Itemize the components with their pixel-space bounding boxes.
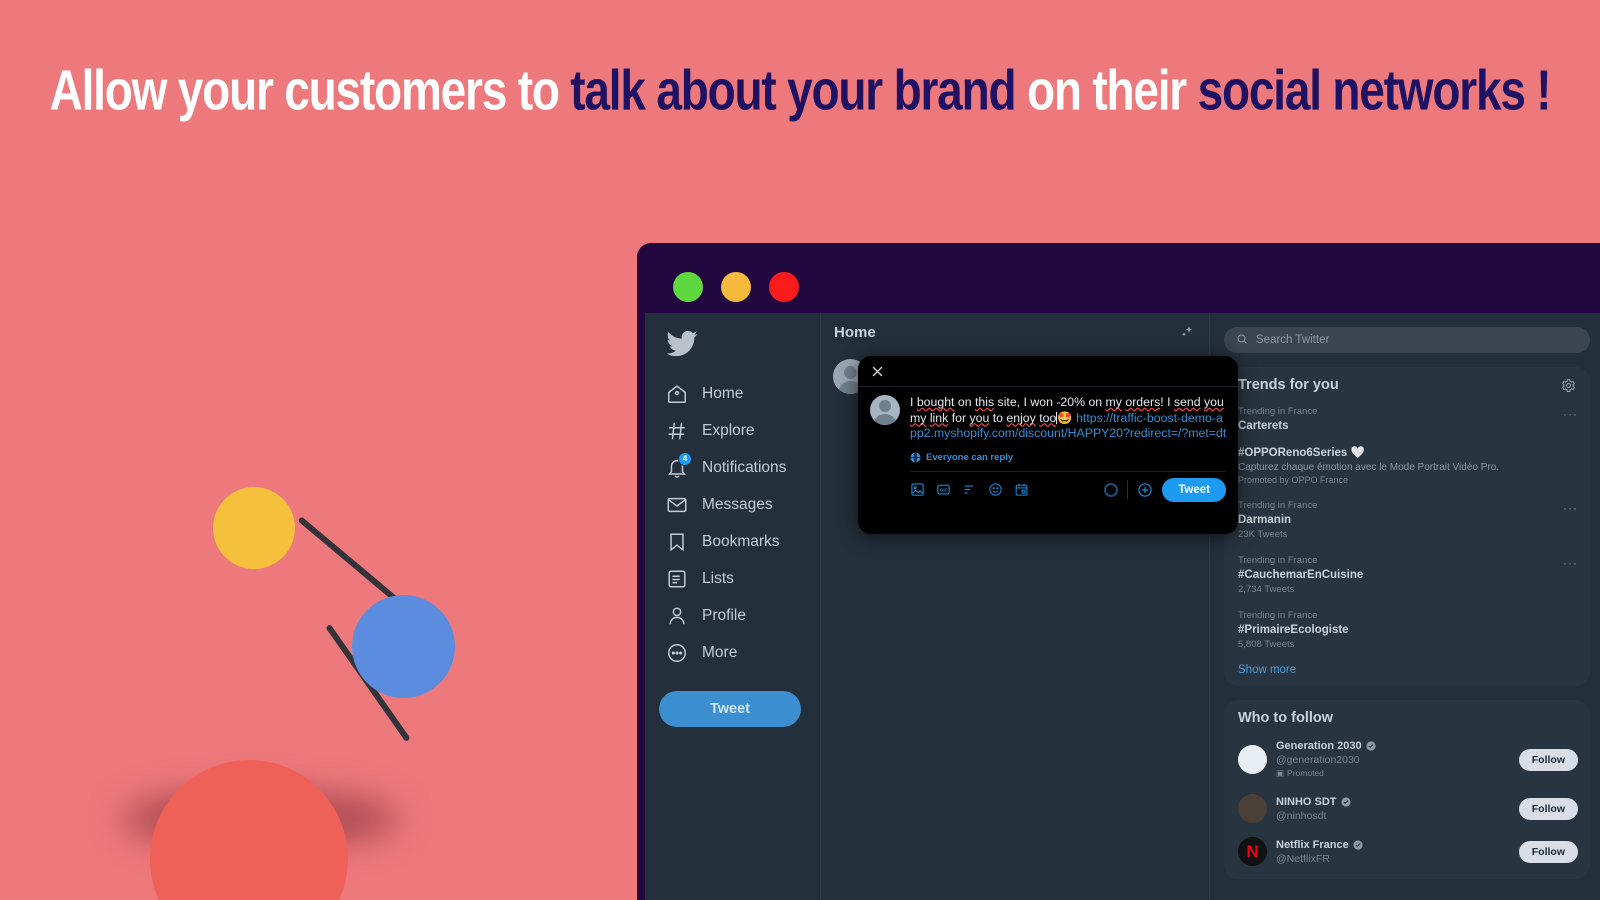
envelope-icon [666, 494, 688, 516]
close-icon[interactable] [870, 364, 885, 379]
avatar [870, 395, 900, 425]
follow-button[interactable]: Follow [1519, 798, 1578, 820]
poll-icon[interactable] [962, 482, 977, 497]
who-to-follow-title: Who to follow [1238, 710, 1333, 726]
trend-name: #CauchemarEnCuisine [1238, 568, 1576, 583]
sidebar-item-messages[interactable]: Messages [657, 486, 820, 523]
right-sidebar: Search Twitter Trends for you ··· Trendi… [1210, 313, 1600, 900]
trend-count: 23K Tweets [1238, 528, 1576, 542]
image-icon[interactable] [910, 482, 925, 497]
red-node [150, 760, 348, 900]
svg-text:GIF: GIF [940, 488, 948, 493]
trend-name: Carterets [1238, 419, 1576, 434]
hashtag-icon [666, 420, 688, 442]
trend-item[interactable]: Trending in France #PrimaireEcologiste 5… [1224, 603, 1590, 658]
trend-name: Darmanin [1238, 513, 1576, 528]
toolbar-divider [1127, 480, 1128, 499]
avatar: N [1238, 837, 1267, 866]
list-icon [666, 568, 688, 590]
reply-setting-button[interactable]: Everyone can reply [910, 450, 1228, 466]
trend-context: Trending in France [1238, 554, 1576, 568]
follow-button[interactable]: Follow [1519, 749, 1578, 771]
headline-part-3: on their [1027, 58, 1198, 121]
list-item[interactable]: N Netflix France @NetflixFR Follow [1224, 830, 1590, 873]
sidebar-item-bookmarks[interactable]: Bookmarks [657, 523, 820, 560]
account-name: Netflix France [1276, 838, 1349, 852]
avatar [1238, 745, 1267, 774]
trend-count: 5,808 Tweets [1238, 638, 1576, 652]
modal-header [858, 356, 1238, 387]
sidebar-item-label: More [702, 644, 737, 662]
sidebar-item-label: Notifications [702, 459, 786, 477]
follow-button[interactable]: Follow [1519, 841, 1578, 863]
globe-icon [910, 452, 921, 463]
trend-context: Trending in France [1238, 499, 1576, 513]
trend-context: Trending in France [1238, 405, 1576, 419]
modal-toolbar: GIF Tweet [910, 471, 1226, 507]
trend-context: Trending in France [1238, 609, 1576, 623]
yellow-node [213, 487, 295, 569]
search-placeholder: Search Twitter [1256, 334, 1329, 346]
page-title: Home [834, 324, 876, 341]
connector-line-yellow-blue [298, 516, 403, 605]
verified-badge-icon [1353, 840, 1363, 850]
home-icon [666, 383, 688, 405]
trend-more-icon[interactable]: ··· [1563, 556, 1578, 570]
network-illustration [0, 230, 640, 870]
reply-setting-label: Everyone can reply [926, 450, 1013, 466]
trend-item-promoted[interactable]: #OPPOReno6Series 🤍 Capturez chaque émoti… [1224, 440, 1590, 493]
trends-panel: Trends for you ··· Trending in France Ca… [1224, 367, 1590, 686]
account-handle: @ninhosdt [1276, 809, 1510, 823]
timeline-header: Home [821, 313, 1209, 351]
verified-badge-icon [1366, 741, 1376, 751]
tweet-emoji: 🤩 [1057, 411, 1072, 425]
search-input[interactable]: Search Twitter [1224, 327, 1590, 353]
person-icon [666, 605, 688, 627]
headline-part-2: talk about your brand [570, 58, 1027, 121]
trend-promoted-label: Promoted by OPPO France [1238, 474, 1576, 487]
sidebar-item-label: Lists [702, 570, 734, 588]
trend-count: 2,734 Tweets [1238, 583, 1576, 597]
sidebar-item-label: Profile [702, 607, 746, 625]
twitter-bird-icon[interactable] [665, 327, 699, 361]
emoji-icon[interactable] [988, 482, 1003, 497]
trend-item[interactable]: ··· Trending in France Carterets [1224, 399, 1590, 440]
gif-icon[interactable]: GIF [936, 482, 951, 497]
bookmark-icon [666, 531, 688, 553]
promoted-label: Promoted [1287, 767, 1324, 780]
trend-item[interactable]: ··· Trending in France Darmanin 23K Twee… [1224, 493, 1590, 548]
window-button-red[interactable] [769, 272, 799, 302]
trend-item[interactable]: ··· Trending in France #CauchemarEnCuisi… [1224, 548, 1590, 603]
trends-header: Trends for you [1224, 377, 1590, 399]
window-button-yellow[interactable] [721, 272, 751, 302]
trend-name: #PrimaireEcologiste [1238, 623, 1576, 638]
sidebar-item-label: Explore [702, 422, 755, 440]
account-name: NINHO SDT [1276, 795, 1337, 809]
who-to-follow-header: Who to follow [1224, 710, 1590, 732]
trend-name: #OPPOReno6Series 🤍 [1238, 446, 1576, 461]
schedule-icon[interactable] [1014, 482, 1029, 497]
trend-more-icon[interactable]: ··· [1563, 407, 1578, 421]
modal-body: I bought on this site, I won -20% on my … [858, 387, 1238, 465]
trends-show-more-link[interactable]: Show more [1224, 658, 1590, 680]
page-headline: Allow your customers to talk about your … [0, 62, 1600, 118]
account-handle: @generation2030 [1276, 753, 1510, 767]
sidebar-item-label: Messages [702, 496, 773, 514]
character-count-ring [1104, 483, 1118, 497]
notification-badge: 4 [678, 452, 692, 466]
trend-more-icon[interactable]: ··· [1563, 501, 1578, 515]
trends-title: Trends for you [1238, 377, 1339, 393]
list-item[interactable]: NINHO SDT @ninhosdt Follow [1224, 787, 1590, 830]
account-name: Generation 2030 [1276, 739, 1362, 753]
sidebar-item-label: Bookmarks [702, 533, 780, 551]
headline-part-4: social networks ! [1198, 58, 1551, 121]
submit-tweet-button[interactable]: Tweet [1162, 478, 1226, 502]
plus-icon[interactable] [1137, 482, 1153, 498]
tweet-compose-textarea[interactable]: I bought on this site, I won -20% on my … [910, 395, 1228, 465]
sidebar-item-notifications[interactable]: 4 Notifications [657, 449, 820, 486]
sidebar-item-more[interactable]: More [657, 634, 820, 671]
avatar [1238, 794, 1267, 823]
more-circle-icon [666, 642, 688, 664]
sidebar-item-explore[interactable]: Explore [657, 412, 820, 449]
trend-description: Capturez chaque émotion avec le Mode Por… [1238, 461, 1576, 474]
promoted-icon: ▣ [1276, 767, 1284, 780]
sidebar-item-lists[interactable]: Lists [657, 560, 820, 597]
list-item[interactable]: Generation 2030 @generation2030 ▣ Promot… [1224, 732, 1590, 787]
verified-badge-icon [1341, 797, 1351, 807]
sparkle-icon[interactable] [1179, 324, 1195, 340]
sidebar-item-home[interactable]: Home [657, 375, 820, 412]
gear-icon[interactable] [1561, 378, 1576, 393]
account-handle: @NetflixFR [1276, 852, 1510, 866]
compose-tweet-button[interactable]: Tweet [659, 691, 801, 727]
left-sidebar: Home Explore 4 Notifications Messages [645, 313, 820, 900]
search-icon [1236, 333, 1248, 348]
who-to-follow-panel: Who to follow Generation 2030 @generatio… [1224, 700, 1590, 879]
sidebar-item-profile[interactable]: Profile [657, 597, 820, 634]
compose-tweet-modal: I bought on this site, I won -20% on my … [858, 356, 1238, 534]
bell-icon: 4 [666, 457, 688, 479]
window-button-green[interactable] [673, 272, 703, 302]
headline-part-1: Allow your customers to [50, 58, 571, 121]
sidebar-item-label: Home [702, 385, 743, 403]
blue-node [352, 595, 455, 698]
